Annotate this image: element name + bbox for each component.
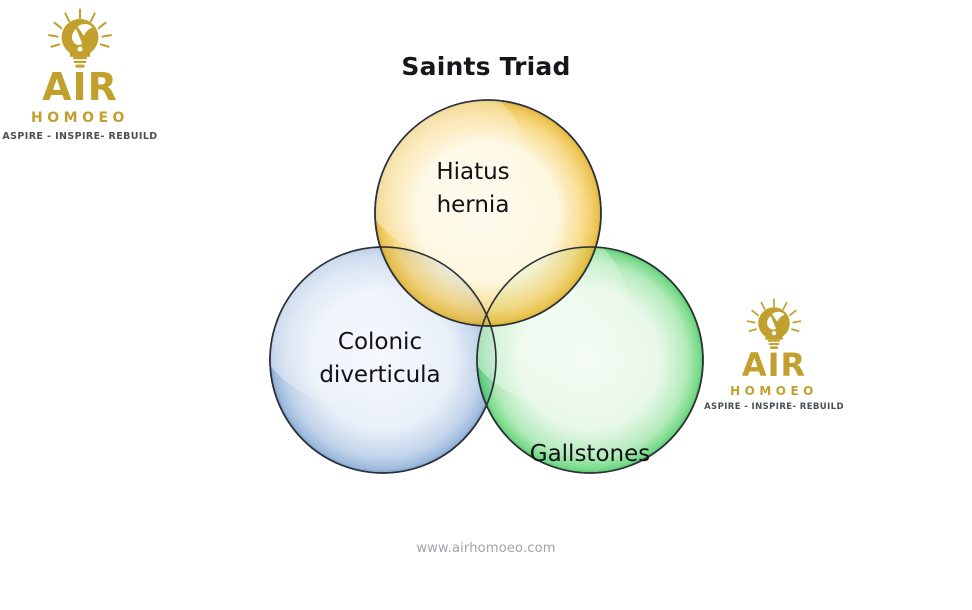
brand-subtitle: HOMOEO bbox=[730, 385, 818, 397]
footer-website-url[interactable]: www.airhomoeo.com bbox=[0, 541, 972, 556]
brand-name: AIR bbox=[742, 349, 806, 381]
venn-diagram: Hiatus hernia Colonic diverticula Gallst… bbox=[258, 88, 718, 488]
brand-logo-secondary: AIR HOMOEO ASPIRE - INSPIRE- REBUILD bbox=[718, 298, 830, 412]
lightbulb-icon bbox=[740, 298, 808, 351]
page-title: Saints Triad bbox=[0, 52, 972, 81]
brand-subtitle: HOMOEO bbox=[31, 111, 129, 125]
brand-tagline: ASPIRE - INSPIRE- REBUILD bbox=[2, 132, 157, 142]
brand-tagline: ASPIRE - INSPIRE- REBUILD bbox=[704, 403, 844, 412]
